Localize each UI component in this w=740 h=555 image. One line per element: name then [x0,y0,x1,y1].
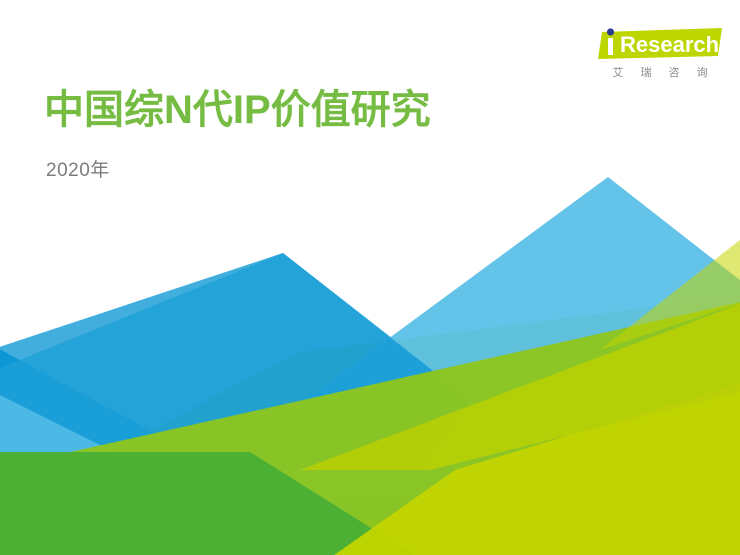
logo-wordmark: Research [596,26,724,62]
report-cover-slide: Research 艾 瑞 咨 询 中国综N代IP价值研究 2020年 [0,0,740,555]
logo-i-stem [608,38,613,55]
logo-chinese-name: 艾 瑞 咨 询 [596,64,724,80]
logo-research-text: Research [620,32,719,57]
report-year: 2020年 [46,155,431,182]
logo-i-dot [607,28,614,35]
logo-badge-icon: Research [596,26,724,62]
page-title: 中国综N代IP价值研究 [44,88,431,133]
title-block: 中国综N代IP价值研究 2020年 [44,88,431,182]
iresearch-logo: Research 艾 瑞 咨 询 [596,26,724,84]
